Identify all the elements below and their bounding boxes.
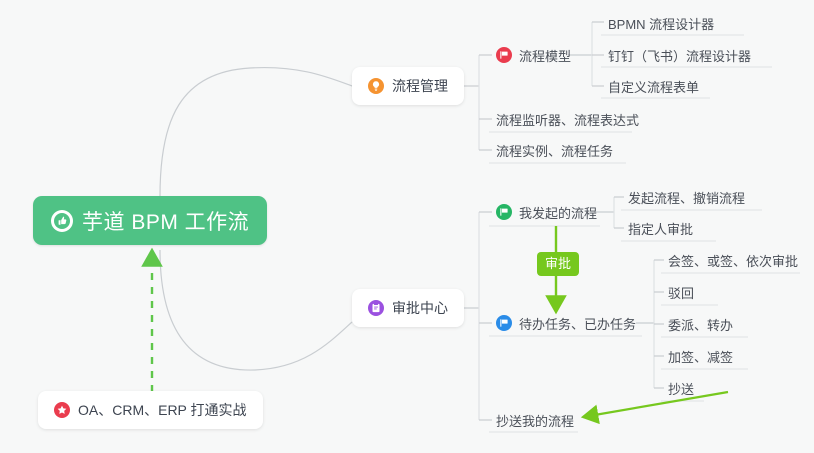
node-countersign[interactable]: 会签、或签、依次审批 (664, 247, 802, 273)
node-label: 我发起的流程 (519, 203, 597, 222)
thumbs-up-icon (51, 210, 73, 232)
mindmap-canvas: 芋道 BPM 工作流 流程管理 流程模型 BPMN 流程设计器 钉钉（飞书）流程… (0, 0, 814, 453)
node-label: 抄送 (668, 379, 694, 398)
node-todo-done[interactable]: 待办任务、已办任务 (492, 310, 640, 336)
node-label: 驳回 (668, 283, 694, 302)
node-reject[interactable]: 驳回 (664, 279, 698, 305)
node-approval-center[interactable]: 审批中心 (352, 289, 464, 327)
node-label: 钉钉（飞书）流程设计器 (608, 46, 751, 65)
flag-green-icon (496, 204, 512, 220)
node-label: 指定人审批 (628, 219, 693, 238)
node-label: 委派、转办 (668, 315, 733, 334)
node-dingtalk-feishu-designer[interactable]: 钉钉（飞书）流程设计器 (604, 42, 755, 68)
node-process-management[interactable]: 流程管理 (352, 67, 464, 105)
node-label: 审批中心 (392, 298, 448, 318)
flag-red-icon (496, 47, 512, 63)
root-label: 芋道 BPM 工作流 (82, 206, 249, 236)
node-start-cancel[interactable]: 发起流程、撤销流程 (624, 184, 749, 210)
node-label: 自定义流程表单 (608, 77, 699, 96)
node-assignee-approval[interactable]: 指定人审批 (624, 215, 697, 241)
node-custom-process-form[interactable]: 自定义流程表单 (604, 73, 703, 99)
node-label: 流程管理 (392, 76, 448, 96)
node-label: 抄送我的流程 (496, 411, 574, 430)
edge-root-to-approval-center (160, 250, 352, 370)
node-instance-task[interactable]: 流程实例、流程任务 (492, 137, 617, 163)
node-label: 流程模型 (519, 46, 571, 65)
lightbulb-icon (368, 78, 384, 94)
approval-annotation-badge: 审批 (537, 252, 579, 276)
node-label: 会签、或签、依次审批 (668, 251, 798, 270)
node-bpmn-designer[interactable]: BPMN 流程设计器 (604, 10, 718, 36)
node-process-model[interactable]: 流程模型 (492, 42, 575, 68)
node-add-remove-sign[interactable]: 加签、减签 (664, 343, 737, 369)
node-cc[interactable]: 抄送 (664, 375, 698, 401)
node-label: 流程监听器、流程表达式 (496, 110, 639, 129)
node-label: BPMN 流程设计器 (608, 14, 714, 33)
node-listener-expression[interactable]: 流程监听器、流程表达式 (492, 106, 643, 132)
node-label: 加签、减签 (668, 347, 733, 366)
star-icon (54, 402, 70, 418)
approval-purple-icon (368, 300, 384, 316)
node-bottom-note[interactable]: OA、CRM、ERP 打通实战 (38, 391, 263, 429)
annotation-arrow-cc (583, 392, 728, 417)
flag-blue-icon (496, 315, 512, 331)
root-node[interactable]: 芋道 BPM 工作流 (33, 196, 267, 245)
node-delegate-transfer[interactable]: 委派、转办 (664, 311, 737, 337)
node-label: 待办任务、已办任务 (519, 314, 636, 333)
node-my-initiated[interactable]: 我发起的流程 (492, 199, 601, 225)
node-label: 发起流程、撤销流程 (628, 188, 745, 207)
node-label: 流程实例、流程任务 (496, 141, 613, 160)
edge-root-to-process-management (160, 68, 352, 196)
bottom-note-label: OA、CRM、ERP 打通实战 (78, 400, 247, 420)
node-cc-to-me[interactable]: 抄送我的流程 (492, 407, 578, 433)
